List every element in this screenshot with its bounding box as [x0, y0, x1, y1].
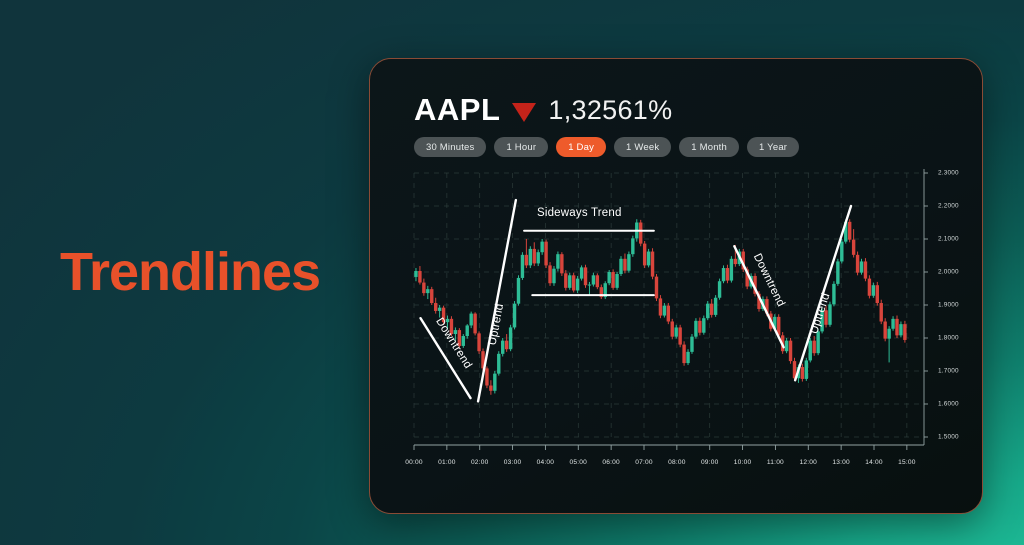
- candle-body: [548, 265, 551, 283]
- candle-body: [667, 306, 670, 322]
- candle-body: [734, 259, 737, 264]
- candle-body: [611, 272, 614, 288]
- candle-body: [891, 319, 894, 329]
- candle-body: [813, 341, 816, 354]
- candle-body: [895, 319, 898, 336]
- candle-body: [572, 275, 575, 290]
- candle-body: [462, 336, 465, 346]
- candle-body: [580, 267, 583, 278]
- candle-body: [643, 244, 646, 266]
- ticker-header: AAPL 1,32561%: [414, 92, 672, 128]
- candle-body: [521, 255, 524, 278]
- candle-body: [686, 352, 689, 363]
- y-axis-label: 1.8000: [938, 335, 959, 342]
- x-axis-label: 14:00: [865, 459, 883, 466]
- candle-body: [868, 279, 871, 296]
- candle-body: [426, 289, 429, 293]
- candle-body: [513, 304, 516, 328]
- candle-body: [801, 367, 804, 379]
- candle-body: [517, 278, 520, 304]
- candle-body: [576, 279, 579, 291]
- candle-body: [434, 303, 437, 311]
- y-axis-label: 2.3000: [938, 170, 959, 177]
- candle-body: [864, 261, 867, 278]
- candle-body: [872, 285, 875, 296]
- candle-body: [789, 341, 792, 361]
- ticker-symbol: AAPL: [414, 92, 500, 128]
- x-axis-label: 11:00: [767, 459, 784, 466]
- candle-body: [529, 249, 532, 266]
- candle-body: [537, 252, 540, 263]
- candle-body: [805, 360, 808, 378]
- candle-body: [505, 341, 508, 350]
- candles: [414, 219, 906, 395]
- candle-body: [671, 322, 674, 337]
- y-axis-label: 2.2000: [938, 203, 959, 210]
- candle-body: [856, 255, 859, 273]
- candle-body: [414, 271, 417, 277]
- candle-body: [899, 324, 902, 335]
- candle-body: [651, 252, 654, 277]
- timeframe-tab-1-week[interactable]: 1 Week: [614, 137, 671, 157]
- x-axis-label: 06:00: [602, 459, 620, 466]
- x-axis-label: 12:00: [800, 459, 818, 466]
- candle-body: [584, 267, 587, 285]
- candle-body: [678, 327, 681, 344]
- plot-area: [406, 167, 928, 452]
- timeframe-tab-30-minutes[interactable]: 30 Minutes: [414, 137, 486, 157]
- candle-body: [430, 289, 433, 303]
- candle-body: [647, 252, 650, 266]
- candle-body: [560, 254, 563, 273]
- axes: [414, 169, 928, 450]
- candle-body: [533, 249, 536, 264]
- candle-body: [730, 259, 733, 281]
- candle-body: [722, 268, 725, 281]
- x-axis-label: 07:00: [635, 459, 653, 466]
- candle-body: [596, 275, 599, 287]
- candle-body: [631, 238, 634, 254]
- y-axis-label: 1.5000: [938, 434, 959, 441]
- timeframe-tab-1-year[interactable]: 1 Year: [747, 137, 799, 157]
- candle-body: [682, 345, 685, 363]
- x-axis-label: 13:00: [832, 459, 850, 466]
- candle-body: [627, 254, 630, 271]
- candle-body: [509, 327, 512, 349]
- candle-body: [525, 255, 528, 266]
- candle-body: [588, 285, 591, 286]
- candle-body: [887, 329, 890, 339]
- candle-body: [615, 274, 618, 288]
- candle-body: [840, 242, 843, 262]
- candle-body: [438, 308, 441, 311]
- timeframe-tab-1-hour[interactable]: 1 Hour: [494, 137, 548, 157]
- timeframe-tabs: 30 Minutes1 Hour1 Day1 Week1 Month1 Year: [414, 137, 799, 157]
- candle-body: [489, 386, 492, 391]
- candle-body: [663, 306, 666, 316]
- y-axis-label: 1.6000: [938, 401, 959, 408]
- candle-body: [568, 275, 571, 288]
- candle-body: [785, 341, 788, 352]
- triangle-down-icon: [512, 103, 536, 122]
- candle-body: [809, 341, 812, 361]
- candle-body: [422, 283, 425, 294]
- candle-body: [880, 303, 883, 321]
- candle-body: [852, 240, 855, 255]
- candle-body: [848, 222, 851, 240]
- timeframe-tab-1-month[interactable]: 1 Month: [679, 137, 739, 157]
- y-axis-label: 1.9000: [938, 302, 959, 309]
- candle-body: [876, 285, 879, 303]
- timeframe-tab-1-day[interactable]: 1 Day: [556, 137, 606, 157]
- candle-body: [883, 322, 886, 339]
- candle-body: [469, 314, 472, 326]
- candle-body: [619, 259, 622, 274]
- candle-body: [544, 242, 547, 266]
- y-axis-label: 1.7000: [938, 368, 959, 375]
- x-axis-label: 09:00: [701, 459, 719, 466]
- candle-body: [540, 242, 543, 253]
- candle-body: [466, 325, 469, 336]
- candle-body: [655, 277, 658, 299]
- candle-body: [710, 304, 713, 315]
- candle-body: [497, 354, 500, 374]
- x-axis-label: 00:00: [405, 459, 423, 466]
- page-title: Trendlines: [60, 245, 320, 299]
- candle-body: [556, 254, 559, 269]
- candle-body: [607, 272, 610, 283]
- candle-body: [418, 271, 421, 283]
- x-axis-label: 01:00: [438, 459, 456, 466]
- candle-body: [698, 321, 701, 333]
- candle-body: [726, 268, 729, 281]
- trend-label-sideways: Sideways Trend: [537, 207, 622, 219]
- candle-body: [473, 314, 476, 334]
- x-axis-label: 08:00: [668, 459, 686, 466]
- candle-body: [592, 275, 595, 284]
- candle-body: [690, 337, 693, 352]
- candlestick-chart: DowntrendUptrendSideways TrendDowntrendU…: [406, 167, 966, 477]
- candle-body: [706, 304, 709, 319]
- x-axis-label: 03:00: [504, 459, 522, 466]
- y-axis-label: 2.0000: [938, 269, 959, 276]
- x-axis-label: 10:00: [734, 459, 752, 466]
- candle-body: [639, 223, 642, 244]
- x-axis-label: 05:00: [570, 459, 588, 466]
- candle-body: [836, 261, 839, 283]
- candle-body: [702, 318, 705, 333]
- candle-body: [659, 298, 662, 315]
- x-axis-label: 15:00: [898, 459, 916, 466]
- candle-body: [860, 261, 863, 272]
- candle-body: [832, 284, 835, 304]
- candle-body: [552, 269, 555, 284]
- chart-panel: AAPL 1,32561% 30 Minutes1 Hour1 Day1 Wee…: [369, 58, 983, 514]
- candle-body: [623, 259, 626, 271]
- grid-lines: [414, 173, 920, 437]
- x-axis-label: 04:00: [537, 459, 555, 466]
- x-axis-label: 02:00: [471, 459, 489, 466]
- chart-svg: [406, 167, 928, 452]
- candle-body: [564, 273, 567, 288]
- ticker-change-value: 1,32561%: [548, 95, 672, 126]
- candle-body: [694, 321, 697, 337]
- candle-body: [718, 281, 721, 298]
- y-axis-label: 2.1000: [938, 236, 959, 243]
- candle-body: [675, 327, 678, 336]
- candle-body: [501, 341, 504, 354]
- candle-body: [493, 374, 496, 391]
- candle-body: [828, 304, 831, 324]
- candle-body: [485, 368, 488, 385]
- candle-body: [477, 333, 480, 351]
- candle-body: [903, 324, 906, 340]
- candle-body: [714, 298, 717, 315]
